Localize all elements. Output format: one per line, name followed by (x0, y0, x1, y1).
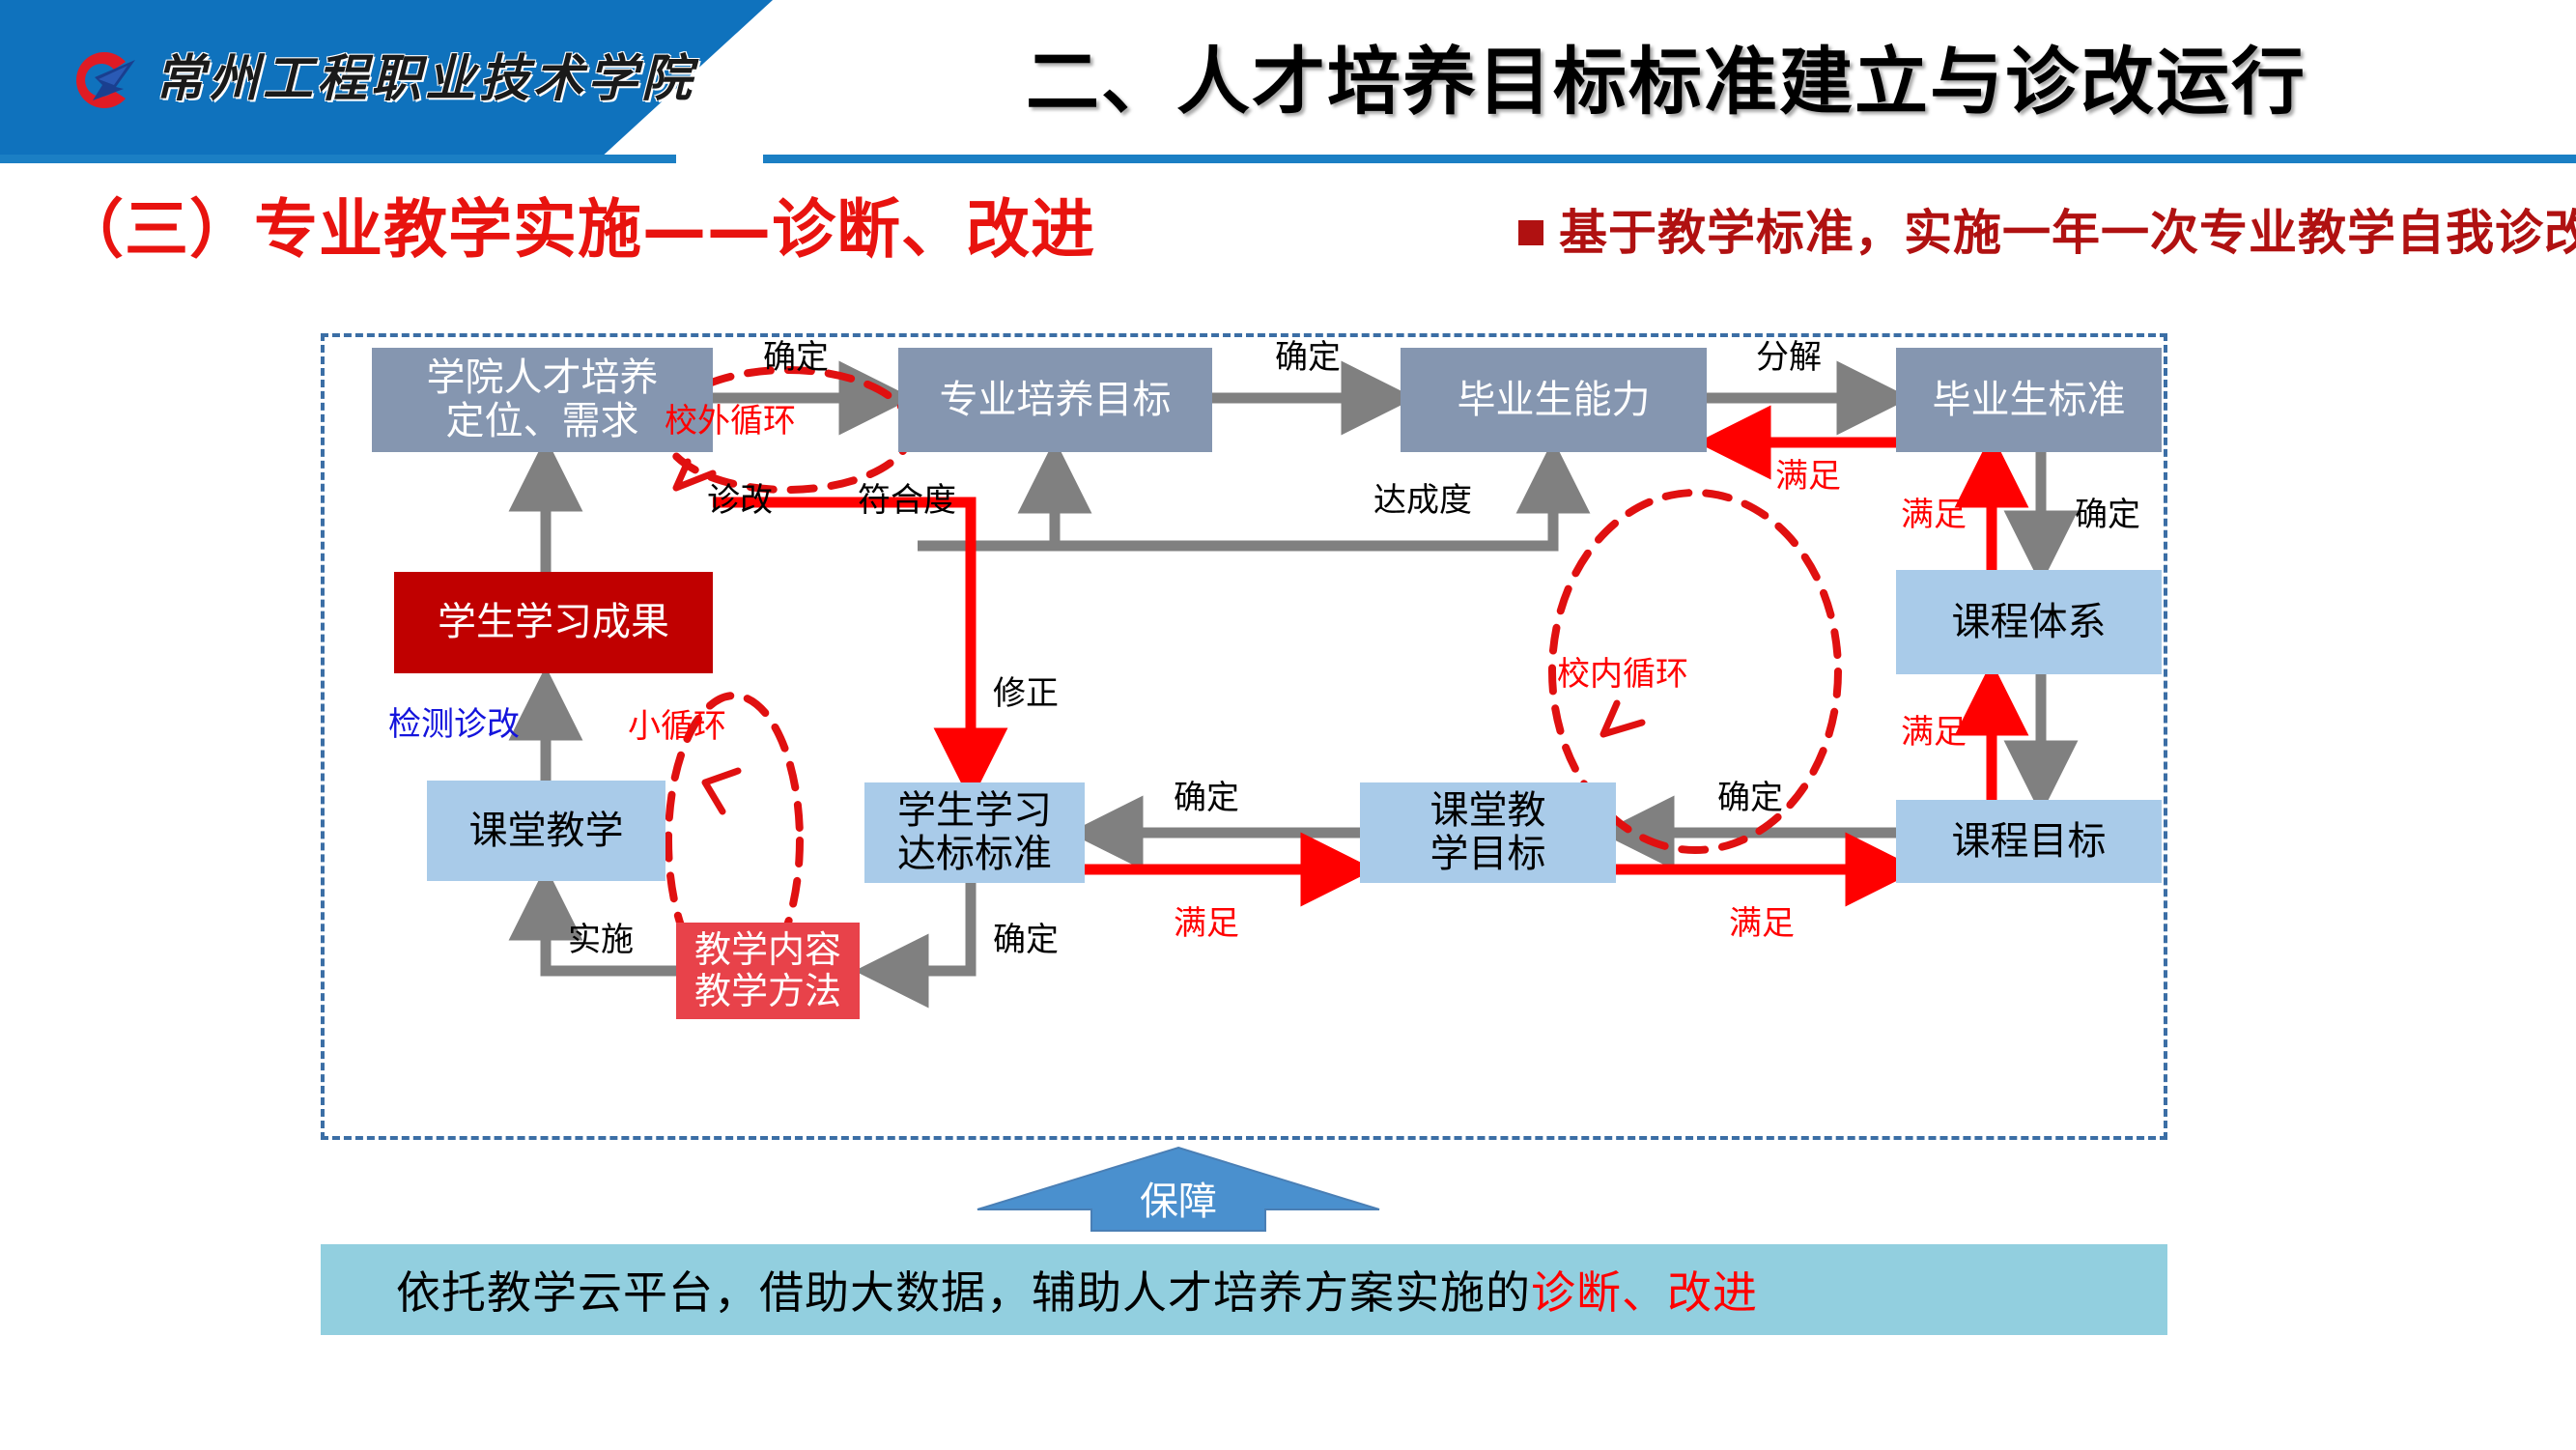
node-classroom-teaching[interactable]: 课堂教学 (427, 781, 665, 881)
label-inner-cycle: 校内循环 (1557, 657, 1688, 693)
label-determine-3: 确定 (2075, 498, 2140, 533)
header-blue-foot-rule (0, 155, 676, 163)
guarantee-arrow-label: 保障 (976, 1175, 1381, 1229)
header-underline-rule (763, 155, 2576, 163)
node-teaching-content-method[interactable]: 教学内容 教学方法 (676, 923, 860, 1019)
footer-banner-prefix: 依托教学云平台，借助大数据，辅助人才培养方案实施的 (396, 1266, 1531, 1319)
node-major-training-goal[interactable]: 专业培养目标 (898, 348, 1212, 452)
label-satisfy-top: 满足 (1775, 459, 1841, 495)
node-course-goal[interactable]: 课程目标 (1896, 800, 2162, 883)
institute-logo-text: 常州工程职业技术学院 (155, 41, 657, 118)
square-bullet-icon (1518, 220, 1543, 245)
node-graduate-ability[interactable]: 毕业生能力 (1401, 348, 1707, 452)
label-revise: 修正 (993, 676, 1059, 712)
label-decompose: 分解 (1756, 340, 1822, 376)
label-achievement: 达成度 (1373, 483, 1472, 519)
node-course-system[interactable]: 课程体系 (1896, 570, 2162, 674)
label-determine-4: 确定 (1717, 781, 1783, 816)
node-graduate-standard[interactable]: 毕业生标准 (1896, 348, 2162, 452)
label-conformity: 符合度 (858, 483, 956, 519)
label-diag-improve: 诊改 (707, 483, 773, 519)
page-header: 常州工程职业技术学院 二、人才培养目标标准建立与诊改运行 (0, 0, 2576, 164)
process-diagram: 学院人才培养 定位、需求 专业培养目标 毕业生能力 毕业生标准 课程体系 课程目… (0, 290, 2576, 1169)
label-determine-1: 确定 (763, 340, 829, 376)
footer-banner-highlight: 诊断、改进 (1531, 1266, 1758, 1319)
node-student-learn-result[interactable]: 学生学习成果 (394, 572, 713, 673)
label-determine-5: 确定 (1174, 781, 1239, 816)
label-satisfy-right-1: 满足 (1901, 498, 1967, 533)
label-detect-diagnose: 检测诊改 (388, 707, 520, 743)
node-classroom-teach-goal[interactable]: 课堂教 学目标 (1360, 782, 1616, 883)
section-bullet-note: 基于教学标准，实施一年一次专业教学自我诊改 (1518, 201, 2576, 265)
section-bullet-note-text: 基于教学标准，实施一年一次专业教学自我诊改 (1559, 201, 2576, 265)
label-determine-2: 确定 (1275, 340, 1341, 376)
label-determine-6: 确定 (993, 923, 1059, 958)
label-satisfy-bot-1: 满足 (1729, 906, 1795, 942)
node-student-learn-standard[interactable]: 学生学习 达标标准 (864, 782, 1085, 883)
institute-logo-icon (66, 46, 143, 114)
label-satisfy-right-2: 满足 (1901, 715, 1967, 751)
label-satisfy-bot-2: 满足 (1174, 906, 1239, 942)
page-title: 二、人才培养目标标准建立与诊改运行 (802, 29, 2531, 135)
section-subtitle: （三）专业教学实施——诊断、改进 (60, 189, 1095, 270)
label-small-cycle: 小循环 (628, 709, 726, 745)
footer-banner-text: 依托教学云平台，借助大数据，辅助人才培养方案实施的诊断、改进 (321, 1258, 1758, 1322)
label-outer-cycle: 校外循环 (665, 404, 796, 440)
node-institute-positioning[interactable]: 学院人才培养 定位、需求 (372, 348, 713, 452)
label-implement: 实施 (568, 923, 634, 958)
footer-banner: 依托教学云平台，借助大数据，辅助人才培养方案实施的诊断、改进 (321, 1244, 2167, 1335)
